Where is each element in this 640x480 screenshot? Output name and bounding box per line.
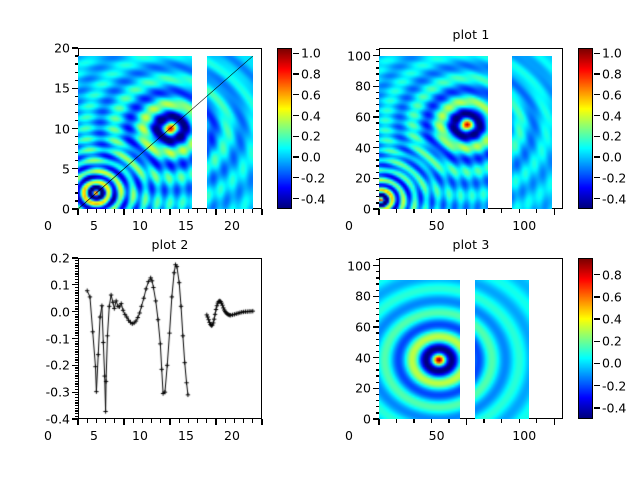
y-minor-tick	[376, 332, 380, 333]
x-minor-tick	[448, 419, 449, 423]
y-minor-tick	[376, 283, 380, 284]
y-tick-mark	[373, 326, 379, 327]
x-tick-mark	[378, 419, 379, 425]
colorbar-tick-label: 0.6	[602, 289, 622, 304]
colorbar-tick-mark	[594, 341, 600, 342]
colorbar-tick-label: 0.8	[602, 267, 622, 282]
panel-title: plot 3	[391, 237, 551, 252]
x-minor-tick	[501, 419, 502, 423]
y-minor-tick	[376, 345, 380, 346]
colorbar-tick-mark	[594, 385, 600, 386]
x-minor-tick	[431, 419, 432, 423]
y-minor-tick	[376, 394, 380, 395]
y-minor-tick	[376, 400, 380, 401]
y-tick-label: 100	[323, 258, 371, 273]
y-tick-label: 80	[323, 289, 371, 304]
y-minor-tick	[376, 382, 380, 383]
colorbar-tick-label: 0.0	[602, 356, 622, 371]
y-minor-tick	[376, 363, 380, 364]
y-minor-tick	[376, 369, 380, 370]
heatmap-patch	[475, 280, 529, 419]
x-minor-tick	[536, 419, 537, 423]
y-tick-mark	[373, 357, 379, 358]
y-tick-label: 60	[323, 320, 371, 335]
colorbar-tick-mark	[594, 296, 600, 297]
figure-canvas: 0510152005101520-0.4-0.20.00.20.40.60.81…	[0, 0, 640, 480]
y-minor-tick	[376, 290, 380, 291]
x-minor-tick	[413, 419, 414, 423]
x-minor-tick	[519, 419, 520, 423]
y-tick-label: 20	[323, 381, 371, 396]
colorbar-tick-mark	[594, 363, 600, 364]
y-minor-tick	[376, 406, 380, 407]
x-tick-label: 0	[319, 428, 379, 443]
x-tick-mark	[466, 419, 467, 425]
y-minor-tick	[376, 351, 380, 352]
colorbar-tick-mark	[594, 318, 600, 319]
panel-bottom-right: plot 3020406080100050100-0.4-0.20.00.20.…	[0, 0, 640, 480]
y-minor-tick	[376, 320, 380, 321]
y-minor-tick	[376, 314, 380, 315]
y-minor-tick	[376, 259, 380, 260]
y-tick-mark	[373, 296, 379, 297]
y-minor-tick	[376, 277, 380, 278]
x-minor-tick	[396, 419, 397, 423]
x-minor-tick	[483, 419, 484, 423]
y-minor-tick	[376, 308, 380, 309]
colorbar-tick-label: 0.2	[602, 334, 622, 349]
y-minor-tick	[376, 271, 380, 272]
y-tick-mark	[373, 265, 379, 266]
colorbar-tick-mark	[594, 407, 600, 408]
x-tick-label: 50	[407, 428, 467, 443]
y-minor-tick	[376, 339, 380, 340]
y-tick-label: 40	[323, 350, 371, 365]
y-tick-label: 0	[323, 412, 371, 427]
colorbar-tick-label: 0.4	[602, 312, 622, 327]
colorbar-tick-mark	[594, 274, 600, 275]
colorbar	[578, 258, 593, 419]
colorbar-tick-label: -0.4	[602, 400, 626, 415]
x-tick-mark	[554, 419, 555, 425]
y-minor-tick	[376, 302, 380, 303]
heatmap-patch	[379, 280, 460, 419]
y-minor-tick	[376, 375, 380, 376]
x-tick-label: 100	[494, 428, 554, 443]
y-tick-mark	[373, 388, 379, 389]
colorbar-tick-label: -0.2	[602, 378, 626, 393]
y-minor-tick	[376, 412, 380, 413]
